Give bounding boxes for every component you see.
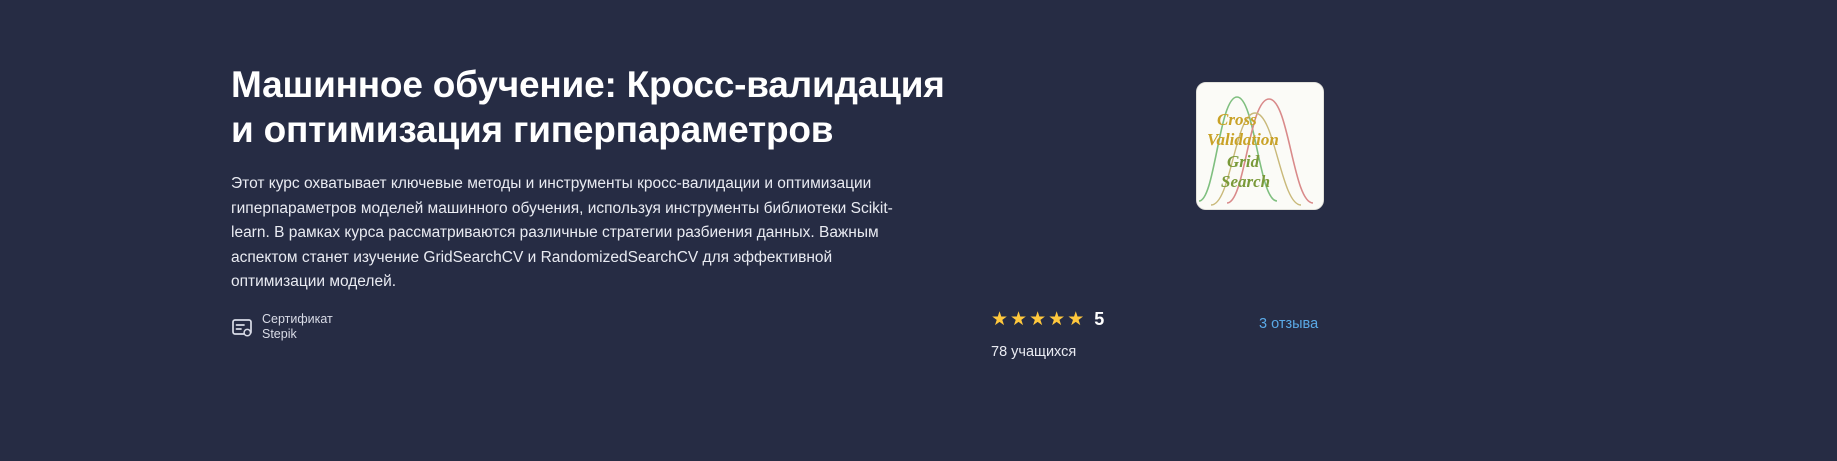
certificate-label: Сертификат Stepik [262, 312, 333, 342]
thumbnail-line-4: Search [1221, 172, 1270, 191]
star-icon: ★ [1048, 310, 1065, 329]
course-thumbnail[interactable]: Cross Validation Grid Search [1196, 82, 1324, 210]
page-title: Машинное обучение: Кросс-валидация и опт… [231, 62, 961, 152]
course-meta-row: Сертификат Stepik ★ ★ ★ ★ ★ 5 78 учащихс… [231, 308, 1331, 368]
rating-value: 5 [1094, 310, 1104, 329]
course-header-page: Машинное обучение: Кросс-валидация и опт… [0, 0, 1837, 461]
star-icon: ★ [1029, 310, 1046, 329]
learners-count: 78 учащихся [991, 343, 1211, 361]
certificate-badge: Сертификат Stepik [231, 312, 333, 342]
star-icon: ★ [1010, 310, 1027, 329]
reviews-link[interactable]: 3 отзыва [1259, 316, 1318, 332]
star-rating: ★ ★ ★ ★ ★ 5 [991, 308, 1211, 330]
rating-block: ★ ★ ★ ★ ★ 5 78 учащихся [991, 308, 1211, 361]
course-header-content: Машинное обучение: Кросс-валидация и опт… [231, 0, 1331, 461]
star-icon: ★ [991, 310, 1008, 329]
thumbnail-line-1: Cross [1217, 110, 1257, 129]
certificate-icon [231, 316, 253, 338]
course-description: Этот курс охватывает ключевые методы и и… [231, 172, 928, 295]
star-icon: ★ [1067, 310, 1084, 329]
certificate-provider: Stepik [262, 327, 333, 342]
thumbnail-line-2: Validation [1207, 130, 1279, 149]
thumbnail-line-3: Grid [1227, 152, 1260, 171]
certificate-title: Сертификат [262, 312, 333, 327]
